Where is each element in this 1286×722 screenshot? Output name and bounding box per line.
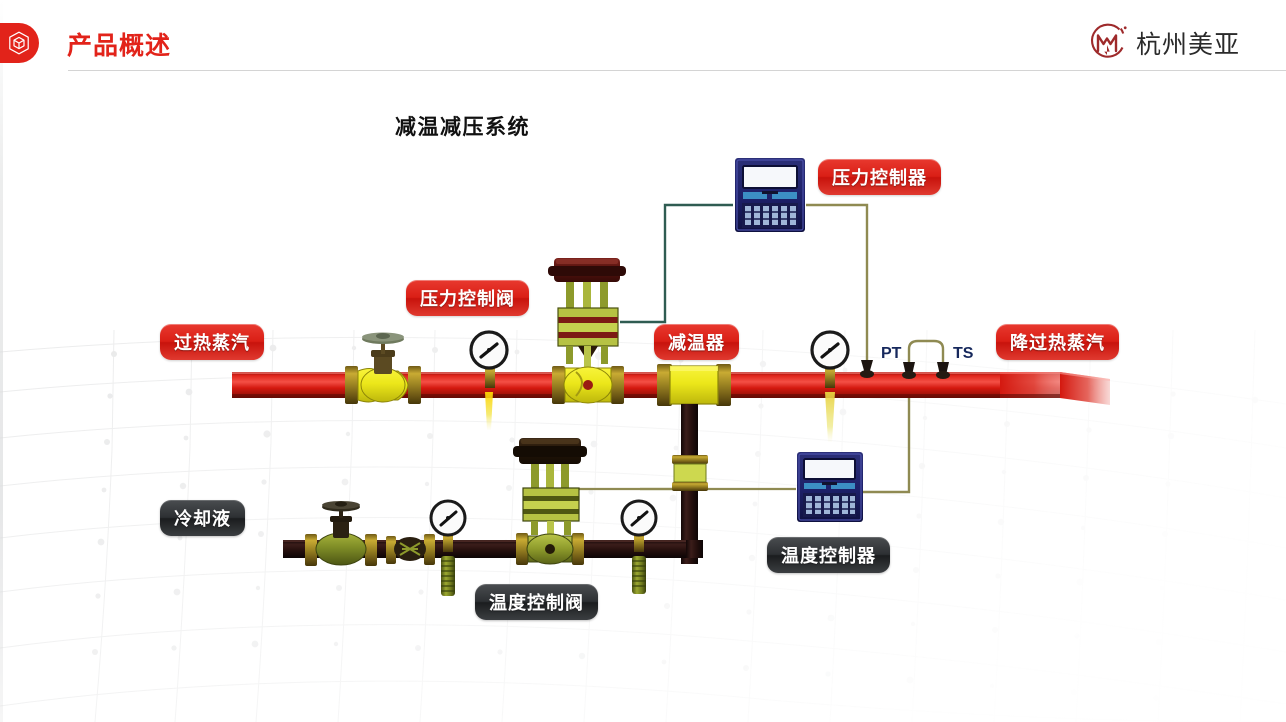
temperature-controller-device [797, 452, 863, 522]
process-diagram [0, 0, 1286, 722]
pressure-control-valve-assembly [548, 258, 626, 404]
callout-label: 压力控制器 [832, 164, 927, 190]
coolant-hand-valve [305, 501, 377, 566]
callout-label: 减温器 [668, 329, 725, 355]
slide-root: 产品概述 杭州美亚 减温减压系统 [0, 0, 1286, 722]
piping-schematic [0, 0, 1286, 722]
callout-label: 温度控制阀 [489, 589, 584, 615]
callout-superheated-steam[interactable]: 过热蒸汽 [160, 324, 264, 360]
callout-label: 过热蒸汽 [174, 329, 250, 355]
callout-pressure-control-valve[interactable]: 压力控制阀 [406, 280, 529, 316]
pressure-controller-device [735, 158, 805, 232]
temperature-control-valve-assembly [513, 438, 587, 565]
callout-label: 压力控制阀 [420, 285, 515, 311]
callout-pressure-controller[interactable]: 压力控制器 [818, 159, 941, 195]
tap-label-pt: PT [881, 345, 901, 363]
steam-hand-valve [345, 333, 421, 405]
callout-label: 温度控制器 [781, 542, 876, 568]
callout-label: 冷却液 [174, 505, 231, 531]
desuperheater-body [657, 364, 731, 564]
callout-coolant[interactable]: 冷却液 [160, 500, 245, 536]
callout-desuperheater[interactable]: 减温器 [654, 324, 739, 360]
callout-label: 降过热蒸汽 [1010, 329, 1105, 355]
coolant-riser-elbow [686, 540, 703, 558]
coolant-strainer [386, 534, 435, 565]
callout-temperature-controller[interactable]: 温度控制器 [767, 537, 890, 573]
callout-temperature-control-valve[interactable]: 温度控制阀 [475, 584, 598, 620]
callout-reduced-superheat-steam[interactable]: 降过热蒸汽 [996, 324, 1119, 360]
tap-label-ts: TS [953, 345, 973, 363]
